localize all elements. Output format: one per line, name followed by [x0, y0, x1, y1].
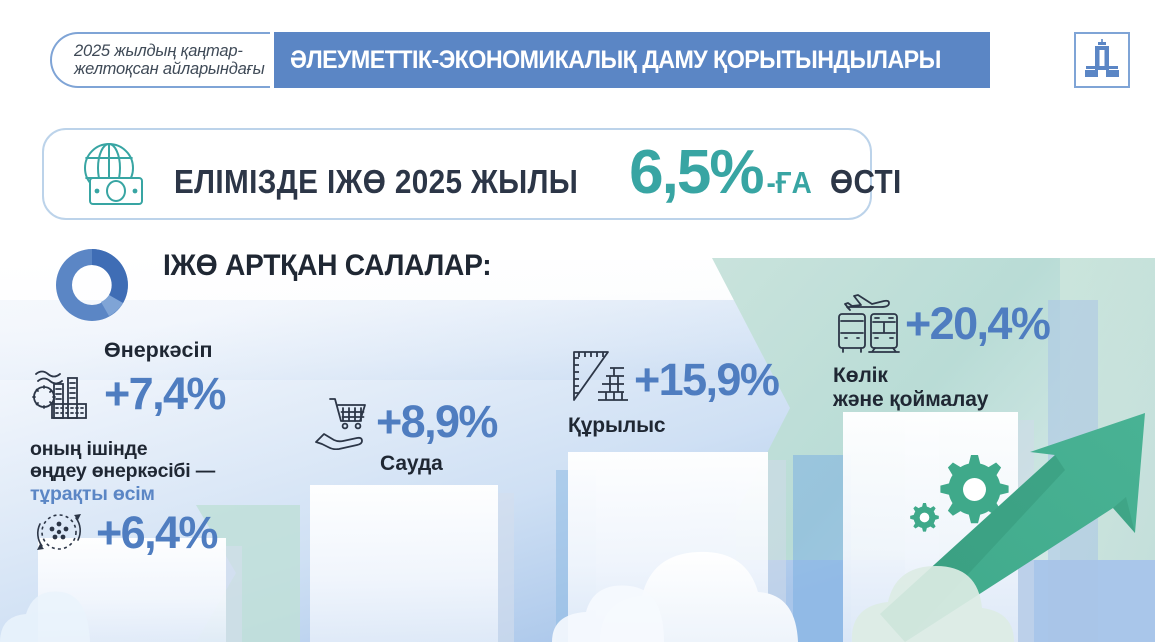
gdp-summary-banner: ЕЛІМІЗДЕ ІЖӨ 2025 ЖЫЛЫ 6,5% -ҒА ӨСТІ	[42, 128, 872, 220]
sector-label-trade: Сауда	[380, 452, 497, 476]
sector-block-construction: +15,9% Құрылыс	[568, 348, 778, 438]
transport-label-line2: және қоймалау	[833, 388, 988, 411]
section-heading: ІЖӨ АРТҚАН САЛАЛАР:	[163, 249, 491, 283]
sector-value-trade: +8,9%	[376, 399, 497, 444]
gdp-value: 6,5%	[629, 148, 762, 198]
header-banner: 2025 жылдың қаңтар-желтоқсан айларындағы…	[50, 32, 990, 88]
sector-value-industry: +7,4%	[104, 371, 225, 416]
sector-block-trade: +8,9% Сауда	[312, 392, 497, 476]
circular-process-icon	[30, 506, 88, 558]
subnote-line3: тұрақты өсім	[30, 483, 295, 506]
subnote-line2: өңдеу өнеркәсібі —	[30, 460, 215, 482]
donut-chart-icon	[44, 243, 140, 327]
gdp-lead-text: ЕЛІМІЗДЕ ІЖӨ 2025 ЖЫЛЫ	[174, 163, 578, 201]
industry-subnote: оның ішінде өңдеу өнеркәсібі — тұрақты ө…	[30, 438, 295, 506]
sector-value-transport: +20,4%	[905, 301, 1049, 346]
sector-label-industry: Өнеркәсіп	[104, 340, 295, 362]
sector-label-transport: Көлік және қоймалау	[833, 364, 1049, 413]
header-date-label: 2025 жылдың қаңтар-желтоқсан айларындағы	[74, 42, 270, 79]
ruler-bricks-icon	[568, 348, 630, 410]
sector-value-construction: +15,9%	[634, 357, 778, 402]
building-icon	[1082, 39, 1122, 81]
sector-label-construction: Құрылыс	[568, 414, 778, 438]
header-title-bar: ӘЛЕУМЕТТІК-ЭКОНОМИКАЛЫҚ ДАМУ ҚОРЫТЫНДЫЛА…	[270, 32, 990, 88]
gdp-value-suffix: -ҒА	[766, 165, 811, 201]
header-date-pill: 2025 жылдың қаңтар-желтоқсан айларындағы	[50, 32, 270, 88]
industry-sub-value: +6,4%	[96, 510, 217, 555]
factory-icon	[30, 364, 98, 424]
subnote-line1: оның ішінде	[30, 438, 147, 460]
page-title: ӘЛЕУМЕТТІК-ЭКОНОМИКАЛЫҚ ДАМУ ҚОРЫТЫНДЫЛА…	[290, 46, 941, 75]
transport-label-line1: Көлік	[833, 364, 888, 387]
government-building-logo	[1074, 32, 1130, 88]
globe-money-icon	[76, 140, 150, 208]
sector-block-transport: +20,4% Көлік және қоймалау	[833, 288, 1049, 413]
gear-icon-small	[910, 503, 939, 532]
gdp-tail-text: ӨСТІ	[830, 163, 902, 201]
sector-block-industry: Өнеркәсіп +7,4% оның ішінде өңдеу өнеркә…	[30, 340, 295, 558]
plane-bus-train-icon	[833, 288, 903, 358]
shopping-cart-hand-icon	[312, 392, 376, 450]
